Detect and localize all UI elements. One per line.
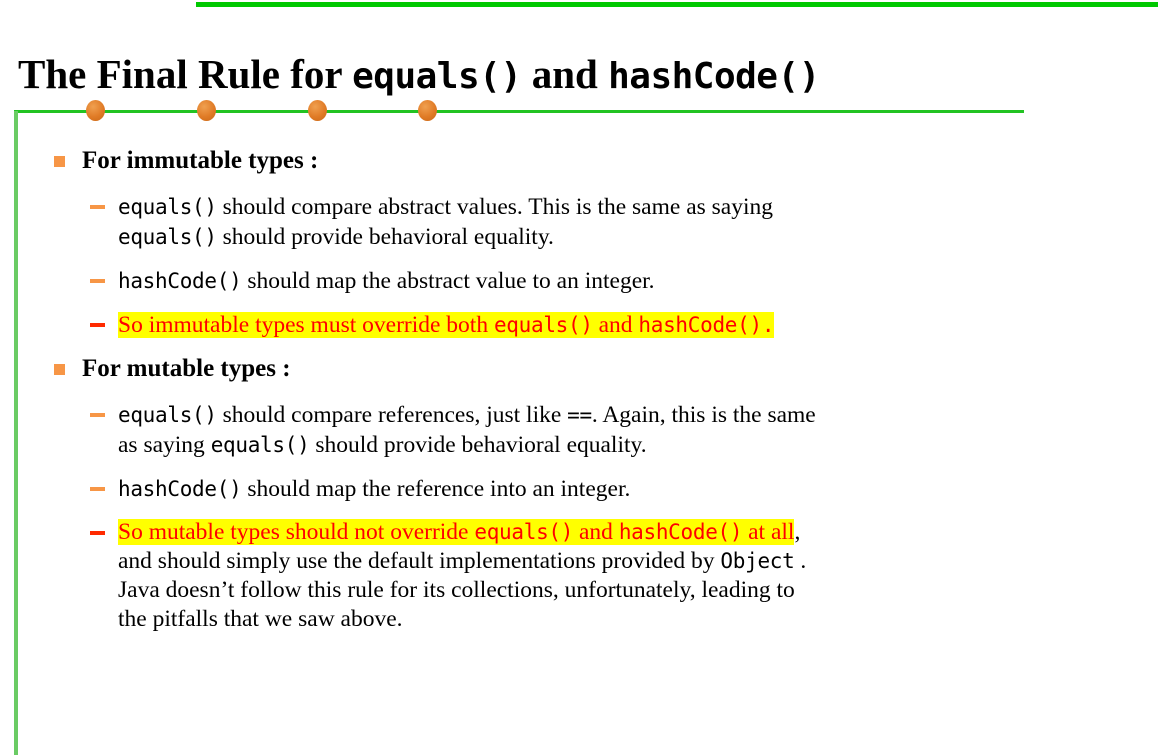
code-token-eqeq: == bbox=[567, 403, 592, 427]
bullet-text-m-b1: should map the reference into an integer… bbox=[247, 476, 630, 502]
section-heading-label: For mutable types : bbox=[82, 355, 291, 382]
highlighted-rule-immutable: So immutable types must override both eq… bbox=[118, 312, 774, 338]
section-heading-immutable: For immutable types : bbox=[0, 144, 1158, 178]
bullet-text-b1: should map the abstract value to an inte… bbox=[247, 268, 654, 294]
bullet-text-m-a4: should provide behavioral equality. bbox=[315, 432, 646, 458]
code-token-hashcode: hashCode() bbox=[118, 269, 241, 293]
rule-text-m-c2: and bbox=[579, 519, 613, 545]
top-accent-bar bbox=[196, 2, 1158, 7]
bullet-text-m-a1: should compare references, just like bbox=[223, 402, 562, 428]
rule-text-m-c8: the pitfalls that we saw above. bbox=[118, 606, 403, 632]
rule-text-c3: . bbox=[762, 313, 774, 337]
bullet-text-m-a3: as saying bbox=[118, 432, 205, 458]
page-title-middle: and bbox=[521, 51, 608, 97]
code-token-object: Object bbox=[720, 549, 794, 573]
page-title-code-equals: equals() bbox=[352, 56, 521, 97]
section-heading-label: For immutable types : bbox=[82, 147, 318, 174]
code-token-equals: equals() bbox=[474, 520, 573, 544]
code-token-equals-2: equals() bbox=[118, 225, 217, 249]
divider-dot-2 bbox=[197, 100, 216, 121]
bullet-mutable-equals: equals() should compare references, just… bbox=[0, 400, 1158, 460]
title-divider bbox=[14, 106, 1024, 110]
code-token-equals: equals() bbox=[118, 195, 217, 219]
page-title-code-hashcode: hashCode() bbox=[608, 56, 820, 97]
section-heading-mutable: For mutable types : bbox=[0, 352, 1158, 386]
code-token-hashcode: hashCode() bbox=[619, 520, 742, 544]
dash-bullet-icon bbox=[90, 323, 105, 327]
code-token-equals-2: equals() bbox=[211, 433, 310, 457]
divider-rule bbox=[14, 110, 1024, 113]
dash-bullet-icon bbox=[90, 487, 105, 491]
dash-bullet-icon bbox=[90, 279, 105, 283]
bullet-immutable-hashcode: hashCode() should map the abstract value… bbox=[0, 266, 1158, 296]
divider-dot-1 bbox=[86, 100, 105, 121]
code-token-hashcode: hashCode() bbox=[118, 477, 241, 501]
page-title: The Final Rule for equals() and hashCode… bbox=[18, 49, 1138, 102]
rule-text-m-c3: at all bbox=[748, 519, 794, 545]
rule-text-m-c1: So mutable types should not override bbox=[118, 519, 469, 545]
code-token-hashcode: hashCode() bbox=[638, 313, 761, 337]
bullet-mutable-rule: So mutable types should not override equ… bbox=[0, 518, 1158, 634]
rule-text-m-c7: Java doesn’t follow this rule for its co… bbox=[118, 577, 795, 603]
square-bullet-icon bbox=[54, 364, 65, 375]
rule-text-m-c6: . bbox=[800, 548, 806, 574]
bullet-text-a1: should compare abstract values. This is … bbox=[223, 194, 773, 220]
dash-bullet-icon bbox=[90, 205, 105, 209]
square-bullet-icon bbox=[54, 156, 65, 167]
divider-dot-4 bbox=[418, 100, 437, 121]
bullet-text-a2: should provide behavioral equality. bbox=[223, 224, 554, 250]
code-token-equals: equals() bbox=[118, 403, 217, 427]
highlighted-rule-mutable: So mutable types should not override equ… bbox=[118, 519, 794, 545]
rule-text-c2: and bbox=[599, 312, 633, 338]
slide-body: For immutable types : equals() should co… bbox=[0, 132, 1158, 634]
rule-text-c1: So immutable types must override both bbox=[118, 312, 488, 338]
dash-bullet-icon bbox=[90, 413, 105, 417]
divider-dot-3 bbox=[308, 100, 327, 121]
bullet-text-m-a2: . Again, this is the same bbox=[592, 402, 816, 428]
code-token-equals: equals() bbox=[494, 313, 593, 337]
bullet-mutable-hashcode: hashCode() should map the reference into… bbox=[0, 474, 1158, 504]
page-title-prefix: The Final Rule for bbox=[18, 51, 352, 97]
bullet-immutable-rule: So immutable types must override both eq… bbox=[0, 310, 1158, 340]
rule-text-m-c4: , bbox=[794, 519, 800, 545]
rule-text-m-c5: and should simply use the default implem… bbox=[118, 548, 715, 574]
dash-bullet-icon bbox=[90, 531, 105, 535]
bullet-immutable-equals: equals() should compare abstract values.… bbox=[0, 192, 1158, 252]
